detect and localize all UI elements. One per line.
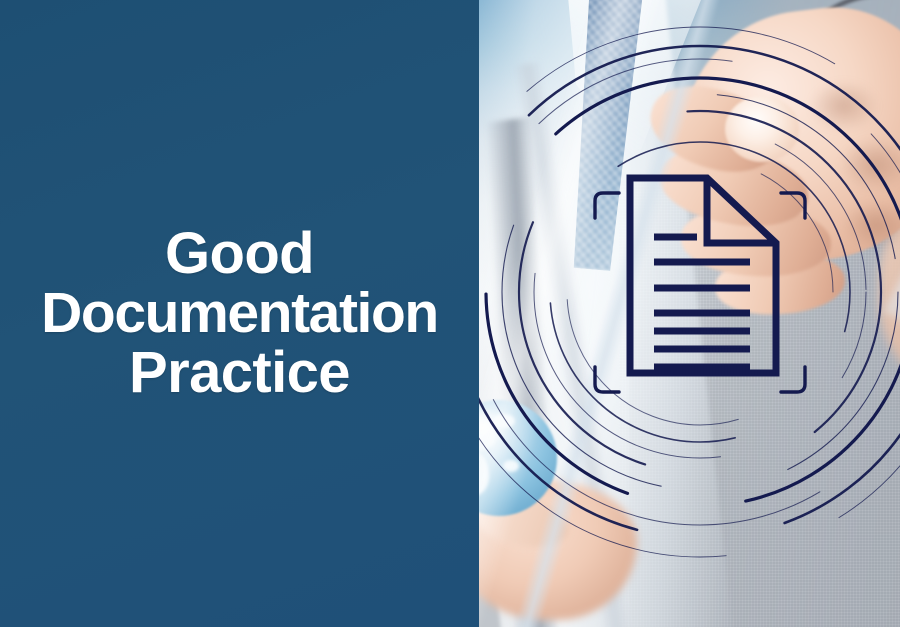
title-line-1: Good — [165, 224, 314, 284]
hud-overlay — [479, 0, 900, 627]
bracket-bottom-right — [781, 367, 805, 392]
document-page-outline — [630, 178, 776, 373]
bracket-bottom-left — [595, 367, 619, 392]
photo-panel — [479, 0, 900, 627]
document-icon — [630, 178, 776, 373]
document-text-lines — [654, 237, 750, 367]
title-line-3: Practice — [129, 343, 350, 403]
bracket-top-left — [595, 193, 619, 218]
banner-canvas: Good Documentation Practice — [0, 0, 900, 627]
title-panel: Good Documentation Practice — [0, 0, 479, 627]
title-line-2: Documentation — [41, 284, 438, 343]
concentric-arcs — [479, 27, 900, 557]
